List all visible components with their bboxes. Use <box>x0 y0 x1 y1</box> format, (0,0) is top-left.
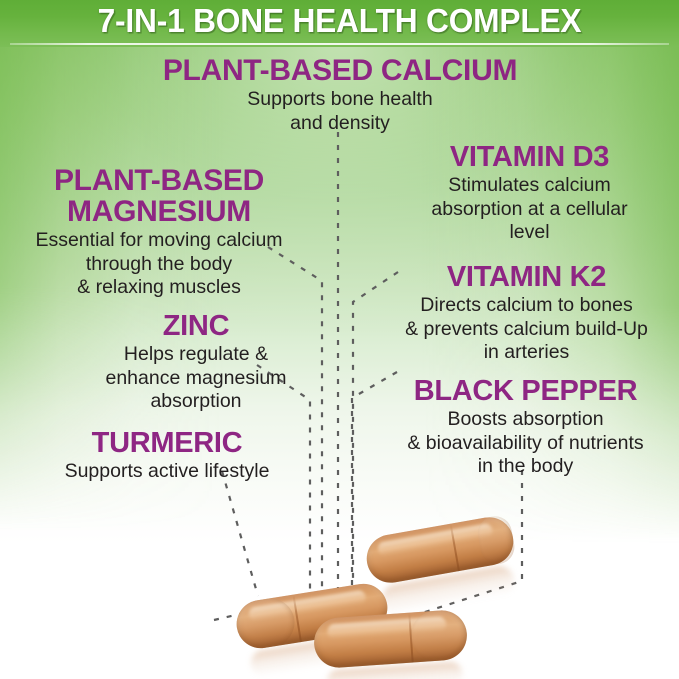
desc-line: Helps regulate & <box>58 343 334 366</box>
desc-line: in the body <box>372 455 679 478</box>
desc-line: and density <box>120 112 560 135</box>
callout-zinc: ZINC Helps regulate & enhance magnesium … <box>58 311 334 413</box>
desc-line: level <box>380 221 679 244</box>
callout-title-black-pepper: BLACK PEPPER <box>372 376 679 406</box>
bone-health-infographic: 7-IN-1 BONE HEALTH COMPLEX PLANT-BASED C… <box>0 0 679 679</box>
desc-line: Essential for moving calcium <box>0 229 318 252</box>
callout-desc-vitamin-d3: Stimulates calcium absorption at a cellu… <box>380 174 679 244</box>
callout-black-pepper: BLACK PEPPER Boosts absorption & bioavai… <box>372 376 679 478</box>
desc-line: Supports bone health <box>120 88 560 111</box>
callout-desc-vitamin-k2: Directs calcium to bones & prevents calc… <box>374 294 679 364</box>
header-divider <box>10 43 669 45</box>
title-line: MAGNESIUM <box>0 196 318 227</box>
desc-line: & bioavailability of nutrients <box>372 432 679 455</box>
callout-title-magnesium: PLANT-BASED MAGNESIUM <box>0 165 318 227</box>
desc-line: absorption at a cellular <box>380 198 679 221</box>
desc-line: Supports active lifestyle <box>8 460 326 483</box>
callout-title-calcium: PLANT-BASED CALCIUM <box>120 55 560 86</box>
callout-title-turmeric: TURMERIC <box>8 428 326 458</box>
callout-vitamin-d3: VITAMIN D3 Stimulates calcium absorption… <box>380 142 679 244</box>
callout-title-vitamin-d3: VITAMIN D3 <box>380 142 679 172</box>
desc-line: Boosts absorption <box>372 408 679 431</box>
callout-plant-based-magnesium: PLANT-BASED MAGNESIUM Essential for movi… <box>0 165 318 300</box>
callout-title-zinc: ZINC <box>58 311 334 341</box>
callout-desc-calcium: Supports bone health and density <box>120 88 560 135</box>
desc-line: enhance magnesium <box>58 367 334 390</box>
callout-desc-magnesium: Essential for moving calcium through the… <box>0 229 318 299</box>
callout-plant-based-calcium: PLANT-BASED CALCIUM Supports bone health… <box>120 55 560 135</box>
desc-line: & relaxing muscles <box>0 276 318 299</box>
callout-desc-black-pepper: Boosts absorption & bioavailability of n… <box>372 408 679 478</box>
callout-vitamin-k2: VITAMIN K2 Directs calcium to bones & pr… <box>374 262 679 364</box>
desc-line: & prevents calcium build-Up <box>374 318 679 341</box>
callout-desc-turmeric: Supports active lifestyle <box>8 460 326 483</box>
desc-line: Stimulates calcium <box>380 174 679 197</box>
desc-line: in arteries <box>374 341 679 364</box>
callout-title-vitamin-k2: VITAMIN K2 <box>374 262 679 292</box>
page-title: 7-IN-1 BONE HEALTH COMPLEX <box>14 0 666 42</box>
desc-line: through the body <box>0 253 318 276</box>
callout-desc-zinc: Helps regulate & enhance magnesium absor… <box>58 343 334 413</box>
title-line: PLANT-BASED <box>0 165 318 196</box>
desc-line: Directs calcium to bones <box>374 294 679 317</box>
callout-turmeric: TURMERIC Supports active lifestyle <box>8 428 326 484</box>
desc-line: absorption <box>58 390 334 413</box>
